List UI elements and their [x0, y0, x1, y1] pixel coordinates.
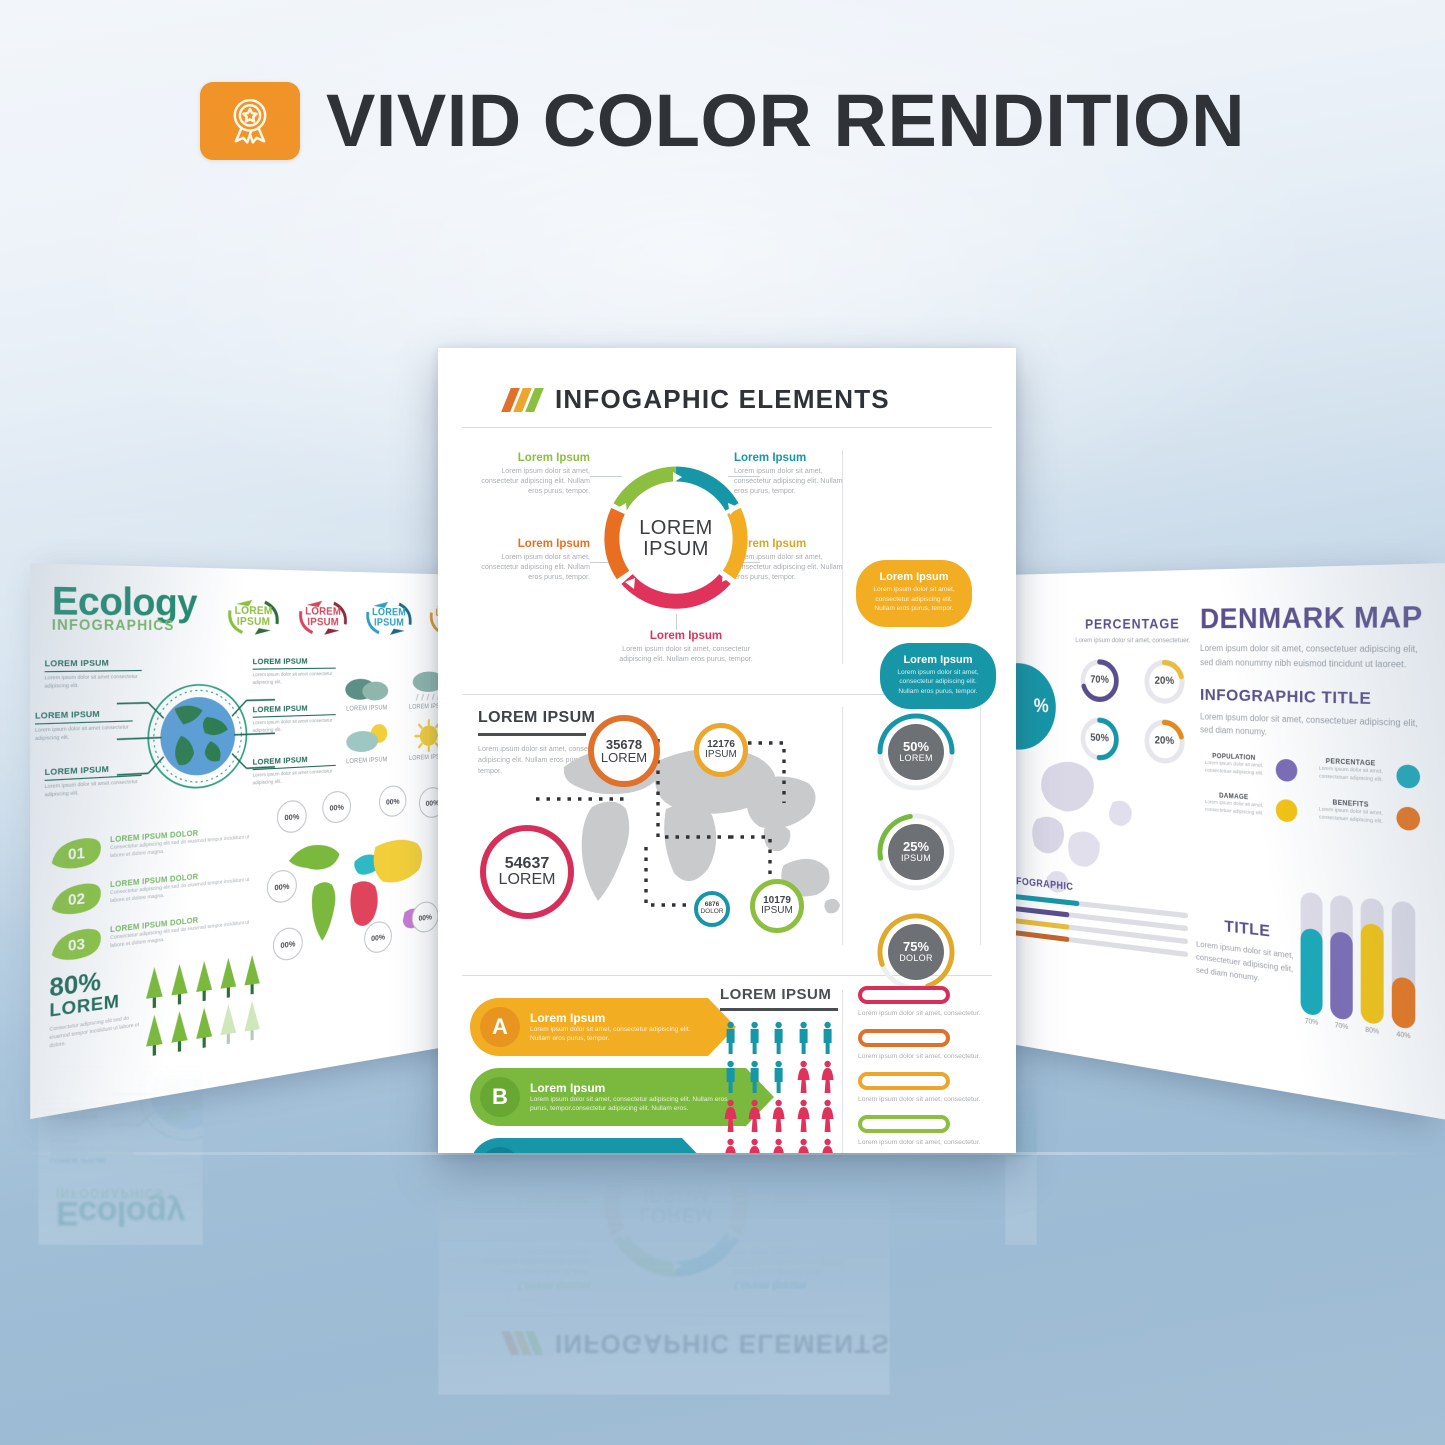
banner-letter: B: [480, 1077, 520, 1117]
percent-value: 25%: [903, 840, 929, 854]
bar-column: [1301, 892, 1323, 1017]
cycle-center-label: LOREM IPSUM: [601, 464, 751, 614]
world-map-section: LOREM IPSUM Lorem ipsum dolor sit amet, …: [438, 695, 1016, 963]
legend-color-dot: [1276, 759, 1298, 783]
donut-chart: 20%: [1142, 657, 1187, 707]
vertical-divider: [842, 1155, 843, 1293]
leaf-icon: 02: [49, 879, 103, 919]
donut-value: 20%: [1142, 657, 1187, 707]
leaf-list: 01 LOREM IPSUM DOLOR Consectetur adipisc…: [49, 822, 258, 975]
cycle-label: Lorem Ipsum Lorem ipsum dolor sit amet, …: [734, 1246, 854, 1291]
map-marker-label: LOREM: [499, 872, 556, 888]
cycle-label-body: Lorem ipsum dolor sit amet, consectetur …: [734, 1246, 854, 1277]
percent-value: 75%: [903, 940, 929, 954]
vertical-divider: [980, 707, 981, 945]
globe-spoke-heading: LOREM IPSUM: [253, 656, 336, 666]
pill-shape[interactable]: [858, 986, 950, 1004]
globe-spoke: LOREM IPSUM Lorem ipsum dolor sit amet c…: [253, 656, 336, 687]
banner-item[interactable]: C Lorem Ipsum Lorem ipsum dolor sit amet…: [470, 1138, 682, 1153]
leader-line: [590, 1180, 622, 1181]
percentage-heading: PERCENTAGE: [1072, 615, 1194, 632]
cycle-label-heading: Lorem Ipsum: [734, 1193, 854, 1205]
legend-item: BENEFITS Lorem ipsum dolor sit amet, con…: [1314, 799, 1426, 832]
donut-value: 50%: [1078, 714, 1121, 764]
percent-donut-center: 25% IPSUM: [888, 824, 944, 880]
recycle-badge: LOREM IPSUM: [222, 593, 285, 642]
bar-label: 80%: [1361, 1026, 1384, 1036]
person-male-icon: [744, 1021, 765, 1055]
pill-text: Lorem ipsum dolor sit amet, consectetur.: [858, 1010, 1006, 1017]
legend-group: POPULATION Lorem ipsum dolor sit amet, c…: [1200, 753, 1426, 832]
highlight-stat: 80% LOREM Consectetur adipiscing elit se…: [49, 965, 139, 1050]
percent-donut-column: 50% LOREM 25% IPSUM 75% DOLOR: [868, 711, 964, 1011]
banners-section: A Lorem Ipsum Lorem ipsum dolor sit amet…: [438, 976, 1016, 1153]
person-female-icon: [817, 1138, 838, 1153]
bar-column: [1361, 897, 1384, 1025]
globe-spoke-body: Lorem ipsum dolor sit amet consectetur a…: [45, 673, 142, 690]
cycle-donut: LOREM IPSUM: [601, 1155, 751, 1279]
divider: [50, 1153, 134, 1155]
cycle-label: Lorem Ipsum Lorem ipsum dolor sit amet, …: [470, 1160, 590, 1205]
side-card[interactable]: Lorem Ipsum Lorem ipsum dolor sit amet, …: [856, 560, 972, 627]
cycle-label-heading: Lorem Ipsum: [470, 538, 590, 550]
leaf-number: 01: [49, 833, 103, 872]
tree-icon: [144, 1012, 165, 1058]
denmark-map-graphic: [1015, 1045, 1037, 1085]
people-title: LOREM IPSUM: [720, 986, 838, 1003]
pill-list: Lorem ipsum dolor sit amet, consectetur.…: [858, 986, 1006, 1153]
vertical-divider: [842, 990, 843, 1153]
tree-icon: [169, 1009, 190, 1055]
leader-line: [728, 1180, 760, 1181]
cycle-label-body: Lorem ipsum dolor sit amet, consectetur …: [470, 1160, 590, 1191]
center-title: INFOGAPHIC ELEMENTS: [555, 384, 890, 415]
percent-donut[interactable]: 25% IPSUM: [875, 811, 957, 893]
weather-caption: LOREM IPSUM: [340, 757, 394, 766]
award-ribbon-icon: [200, 82, 300, 160]
person-female-icon: [817, 1060, 838, 1094]
leader-line: [728, 1266, 760, 1267]
pill-shape[interactable]: [858, 1115, 950, 1133]
cycle-label: Lorem Ipsum Lorem ipsum dolor sit amet, …: [734, 1160, 854, 1205]
clouds-icon: [341, 668, 391, 704]
pill-shape[interactable]: [858, 1072, 950, 1090]
page-header: VIVID COLOR RENDITION: [0, 78, 1445, 163]
person-male-icon: [817, 1021, 838, 1055]
stripe-logo-icon: [506, 388, 539, 412]
legend-item: DAMAGE Lorem ipsum dolor sit amet, conse…: [1200, 792, 1303, 823]
person-male-icon: [744, 1060, 765, 1094]
banner-item[interactable]: A Lorem Ipsum Lorem ipsum dolor sit amet…: [470, 998, 708, 1056]
leader-line: [676, 614, 677, 630]
weather-item: LOREM IPSUM: [340, 720, 394, 766]
recycle-badge-line2: IPSUM: [307, 618, 339, 629]
people-grid: [720, 1021, 838, 1153]
recycle-badge: LOREM IPSUM: [293, 594, 353, 641]
globe-diagram: LOREM IPSUM Lorem ipsum dolor sit amet c…: [47, 662, 334, 818]
side-card-group: Lorem Ipsum Lorem ipsum dolor sit amet, …: [856, 1155, 890, 1183]
donut-value: 70%: [1078, 656, 1121, 705]
progress-bar: [1007, 929, 1188, 957]
banner-heading: Lorem Ipsum: [530, 1011, 698, 1025]
tree-icon: [194, 1005, 214, 1050]
cycle-center-line2: IPSUM: [643, 1183, 709, 1204]
tree-icon: [144, 965, 165, 1011]
map-marker[interactable]: 54637 LOREM: [480, 825, 574, 919]
globe-spoke: LOREM IPSUM Lorem ipsum dolor sit amet c…: [35, 708, 133, 743]
cycle-label-heading: Lorem Ipsum: [734, 538, 854, 550]
bar-column: [1392, 900, 1416, 1029]
banner-body: Lorem ipsum dolor sit amet, consectetur …: [530, 1095, 736, 1114]
legend-body: Lorem ipsum dolor sit amet, consectetuer…: [1314, 806, 1389, 826]
cycle-diagram-section: Lorem Ipsum Lorem ipsum dolor sit amet, …: [438, 442, 1016, 682]
cycle-label-body: Lorem ipsum dolor sit amet, consectetur …: [734, 466, 854, 497]
cycle-label-body: Lorem ipsum dolor sit amet, consectetur …: [734, 552, 854, 583]
cycle-label: Lorem Ipsum Lorem ipsum dolor sit amet, …: [616, 630, 756, 664]
percentage-donut-group: 70% 20% 50% 20%: [1072, 656, 1194, 767]
map-marker-number: 35678: [606, 738, 642, 751]
banner-heading: Lorem Ipsum: [530, 1151, 672, 1153]
tree-icon: [242, 953, 261, 997]
legend-item: POPULATION Lorem ipsum dolor sit amet, c…: [1200, 753, 1303, 782]
banner-letter: A: [480, 1007, 520, 1047]
cycle-label-heading: Lorem Ipsum: [616, 630, 756, 642]
side-card-heading: Lorem Ipsum: [870, 571, 958, 583]
map-marker-label: DOLOR: [700, 909, 723, 916]
globe-spoke-body: Lorem ipsum dolor sit amet consectetur a…: [50, 1138, 134, 1151]
recycle-badge-line2: IPSUM: [374, 618, 404, 629]
person-female-icon: [768, 1099, 789, 1133]
cycle-label-body: Lorem ipsum dolor sit amet, consectetur …: [470, 552, 590, 583]
donut-chart: 20%: [1142, 716, 1187, 767]
side-card[interactable]: Lorem Ipsum Lorem ipsum dolor sit amet, …: [856, 1155, 890, 1183]
side-card-body: Lorem ipsum dolor sit amet, consectetur …: [894, 668, 982, 697]
bar-chart: 70% 70% 80% 40%: [1301, 892, 1429, 1044]
legend-body: Lorem ipsum dolor sit amet, consectetuer…: [1200, 799, 1268, 818]
person-female-icon: [744, 1138, 765, 1153]
person-female-icon: [793, 1138, 814, 1153]
tree-icon: [218, 1002, 238, 1047]
person-male-icon: [720, 1021, 741, 1055]
tree-pictogram-group: [144, 952, 263, 1062]
legend-body: Lorem ipsum dolor sit amet, consectetuer…: [1200, 760, 1268, 778]
map-marker-label: IPSUM: [705, 750, 737, 760]
ecology-infographic-page[interactable]: Ecology INFOGRAPHICS LOREM IPSUM LOREM I…: [30, 563, 468, 1119]
legend-color-dot: [1396, 764, 1420, 789]
pill-text: Lorem ipsum dolor sit amet, consectetur.: [858, 1053, 1006, 1060]
globe-spoke-heading: LOREM IPSUM: [253, 702, 336, 714]
denmark-intro: Lorem ipsum dolor sit amet, consectetuer…: [1200, 642, 1426, 673]
percentage-body: Lorem ipsum dolor sit amet, consectetuer…: [1072, 636, 1194, 647]
leaf-icon: 01: [49, 833, 103, 872]
banner-body: Lorem ipsum dolor sit amet, consectetur …: [530, 1025, 698, 1044]
center-title: INFOGAPHIC ELEMENTS: [555, 1328, 890, 1359]
denmark-content: DENMARK MAP Lorem ipsum dolor sit amet, …: [1200, 599, 1426, 832]
ecology-title: Ecology: [56, 1197, 185, 1229]
cycle-label: Lorem Ipsum Lorem ipsum dolor sit amet, …: [470, 538, 590, 583]
header-divider: [462, 427, 992, 428]
cycle-label: Lorem Ipsum Lorem ipsum dolor sit amet, …: [734, 452, 854, 497]
banner-heading: Lorem Ipsum: [530, 1081, 736, 1095]
cycle-label-heading: Lorem Ipsum: [470, 452, 590, 464]
person-female-icon: [720, 1138, 741, 1153]
cycle-center-line2: IPSUM: [643, 539, 709, 560]
bar-label: 40%: [1392, 1031, 1416, 1041]
globe-spoke: LOREM IPSUM Lorem ipsum dolor sit amet c…: [253, 753, 336, 787]
person-male-icon: [768, 1060, 789, 1094]
tree-icon: [194, 958, 214, 1003]
list-item: 01 LOREM IPSUM DOLOR Consectetur adipisc…: [49, 822, 258, 873]
donut-value: 20%: [1142, 716, 1187, 767]
side-card-heading: Lorem Ipsum: [894, 654, 982, 666]
globe-spoke: LOREM IPSUM Lorem ipsum dolor sit amet c…: [45, 762, 142, 799]
cycle-label-heading: Lorem Ipsum: [734, 1279, 854, 1291]
bar-label: 70%: [1330, 1022, 1352, 1032]
center-header: INFOGAPHIC ELEMENTS: [438, 348, 1016, 415]
cycle-center-label: LOREM IPSUM: [601, 1155, 751, 1279]
people-pictogram-section: LOREM IPSUM: [720, 986, 838, 1153]
cycle-donut: LOREM IPSUM: [601, 464, 751, 614]
donut-chart: 70%: [1078, 656, 1121, 705]
legend-color-dot: [1396, 806, 1420, 831]
cycle-diagram-section: Lorem Ipsum Lorem ipsum dolor sit amet, …: [438, 1155, 890, 1301]
recycle-badge: LOREM IPSUM: [360, 595, 417, 641]
map-marker[interactable]: 10179 IPSUM: [750, 879, 804, 933]
leaf-icon: 03: [49, 924, 103, 965]
globe-spoke: LOREM IPSUM Lorem ipsum dolor sit amet c…: [45, 657, 142, 690]
ecology-world-map: 00% 00% 00% 00% 00% 00% 00% 00%: [271, 802, 449, 988]
tree-icon: [218, 956, 238, 1001]
legend-color-dot: [1276, 799, 1298, 823]
side-card-body: Lorem ipsum dolor sit amet, consectetur …: [870, 1155, 890, 1158]
leader-line: [590, 1266, 622, 1267]
percent-value: 50%: [903, 740, 929, 754]
person-female-icon: [768, 1138, 789, 1153]
bars-body: Lorem ipsum dolor sit amet, consectetuer…: [1196, 938, 1301, 990]
donut-chart: 50%: [1078, 714, 1121, 764]
center-header: INFOGAPHIC ELEMENTS: [438, 1328, 890, 1395]
map-marker-number: 54637: [505, 856, 550, 872]
pill-text: Lorem ipsum dolor sit amet, consectetur.: [858, 1096, 1006, 1103]
person-female-icon: [793, 1060, 814, 1094]
tree-icon: [169, 962, 190, 1007]
page-reflection: INFOGAPHIC ELEMENTS Lorem Ipsum Lorem ip…: [438, 1155, 890, 1395]
legend-item: PERCENTAGE Lorem ipsum dolor sit amet, c…: [1314, 758, 1426, 789]
banner-item[interactable]: B Lorem Ipsum Lorem ipsum dolor sit amet…: [470, 1068, 746, 1126]
page-title: VIVID COLOR RENDITION: [326, 78, 1245, 163]
person-female-icon: [744, 1099, 765, 1133]
leaf-number: 02: [49, 879, 103, 919]
person-male-icon: [793, 1021, 814, 1055]
map-marker[interactable]: 35678 LOREM: [588, 715, 660, 787]
weather-caption: LOREM IPSUM: [340, 705, 394, 713]
legend-body: Lorem ipsum dolor sit amet, consectetuer…: [1314, 765, 1389, 784]
globe-spoke-heading: LOREM IPSUM: [50, 1156, 134, 1165]
divider: [720, 1008, 838, 1011]
denmark-subtitle: INFOGRAPHIC TITLE: [1200, 685, 1426, 709]
percent-label: LOREM: [899, 754, 933, 763]
cycle-label: Lorem Ipsum Lorem ipsum dolor sit amet, …: [734, 538, 854, 583]
pill-text: Lorem ipsum dolor sit amet, consectetur.: [858, 1139, 1006, 1146]
cycle-label-heading: Lorem Ipsum: [470, 1193, 590, 1205]
cycle-center-line1: LOREM: [639, 1204, 713, 1225]
divider: [253, 667, 336, 670]
side-card-heading: Lorem Ipsum: [870, 1160, 890, 1172]
cycle-label-heading: Lorem Ipsum: [734, 452, 854, 464]
cycle-label-body: Lorem ipsum dolor sit amet, consectetur …: [470, 466, 590, 497]
globe-spoke-heading: LOREM IPSUM: [45, 657, 142, 668]
person-female-icon: [793, 1099, 814, 1133]
cycle-label: Lorem Ipsum Lorem ipsum dolor sit amet, …: [470, 1246, 590, 1291]
map-marker[interactable]: 6876 DOLOR: [694, 891, 730, 927]
stripe-logo-icon: [506, 1332, 539, 1356]
recycle-badge-group: LOREM IPSUM LOREM IPSUM LOREM IPSUM: [222, 593, 468, 642]
person-female-icon: [817, 1099, 838, 1133]
header-divider: [462, 1315, 866, 1316]
cycle-label-body: Lorem ipsum dolor sit amet, consectetur …: [734, 1160, 854, 1191]
globe-spoke-body: Lorem ipsum dolor sit amet consectetur a…: [253, 671, 336, 687]
recycle-badge-line2: IPSUM: [237, 617, 270, 628]
denmark-title: DENMARK MAP: [1200, 599, 1426, 636]
cycle-label-heading: Lorem Ipsum: [470, 1279, 590, 1291]
percent-donut-center: 50% LOREM: [888, 724, 944, 780]
cycle-label-body: Lorem ipsum dolor sit amet, consectetur …: [470, 1246, 590, 1277]
globe-spoke-heading: LOREM IPSUM: [35, 708, 133, 721]
divider: [45, 669, 142, 672]
map-marker-label: LOREM: [601, 751, 647, 764]
bar-column: [1330, 894, 1352, 1020]
cycle-label-body: Lorem ipsum dolor sit amet, consectetur …: [616, 644, 756, 664]
side-card-body: Lorem ipsum dolor sit amet, consectetur …: [870, 585, 958, 614]
percent-donut-center: 75% DOLOR: [888, 924, 944, 980]
infographic-elements-page[interactable]: INFOGAPHIC ELEMENTS Lorem Ipsum Lorem ip…: [438, 348, 1016, 1153]
globe-spoke: LOREM IPSUM Lorem ipsum dolor sit amet c…: [253, 702, 336, 734]
cycle-center-line1: LOREM: [639, 518, 713, 539]
percent-label: IPSUM: [901, 854, 931, 863]
denmark-sub-body: Lorem ipsum dolor sit amet, consectetuer…: [1200, 710, 1426, 747]
bar-label: 70%: [1301, 1018, 1323, 1028]
leaf-number: 03: [49, 924, 103, 965]
tree-icon: [242, 998, 261, 1042]
denmark-map-page[interactable]: % PERCENTAGE Lorem ipsum dolor sit amet,…: [1005, 563, 1445, 1119]
map-marker-label: IPSUM: [761, 906, 793, 916]
pill-shape[interactable]: [858, 1029, 950, 1047]
map-marker[interactable]: 12176 IPSUM: [694, 723, 748, 777]
percent-donut[interactable]: 50% LOREM: [875, 711, 957, 793]
title-section: TITLE Lorem ipsum dolor sit amet, consec…: [1196, 914, 1301, 990]
percentage-section: PERCENTAGE Lorem ipsum dolor sit amet, c…: [1072, 615, 1194, 767]
person-male-icon: [768, 1021, 789, 1055]
ecology-subtitle: INFOGRAPHICS: [56, 1186, 185, 1200]
cycle-label: Lorem Ipsum Lorem ipsum dolor sit amet, …: [470, 452, 590, 497]
sun-cloud-icon: [341, 720, 391, 758]
percent-label: DOLOR: [899, 954, 933, 963]
globe-spoke: LOREM IPSUM Lorem ipsum dolor sit amet c…: [50, 1138, 134, 1165]
weather-item: LOREM IPSUM: [340, 668, 394, 713]
